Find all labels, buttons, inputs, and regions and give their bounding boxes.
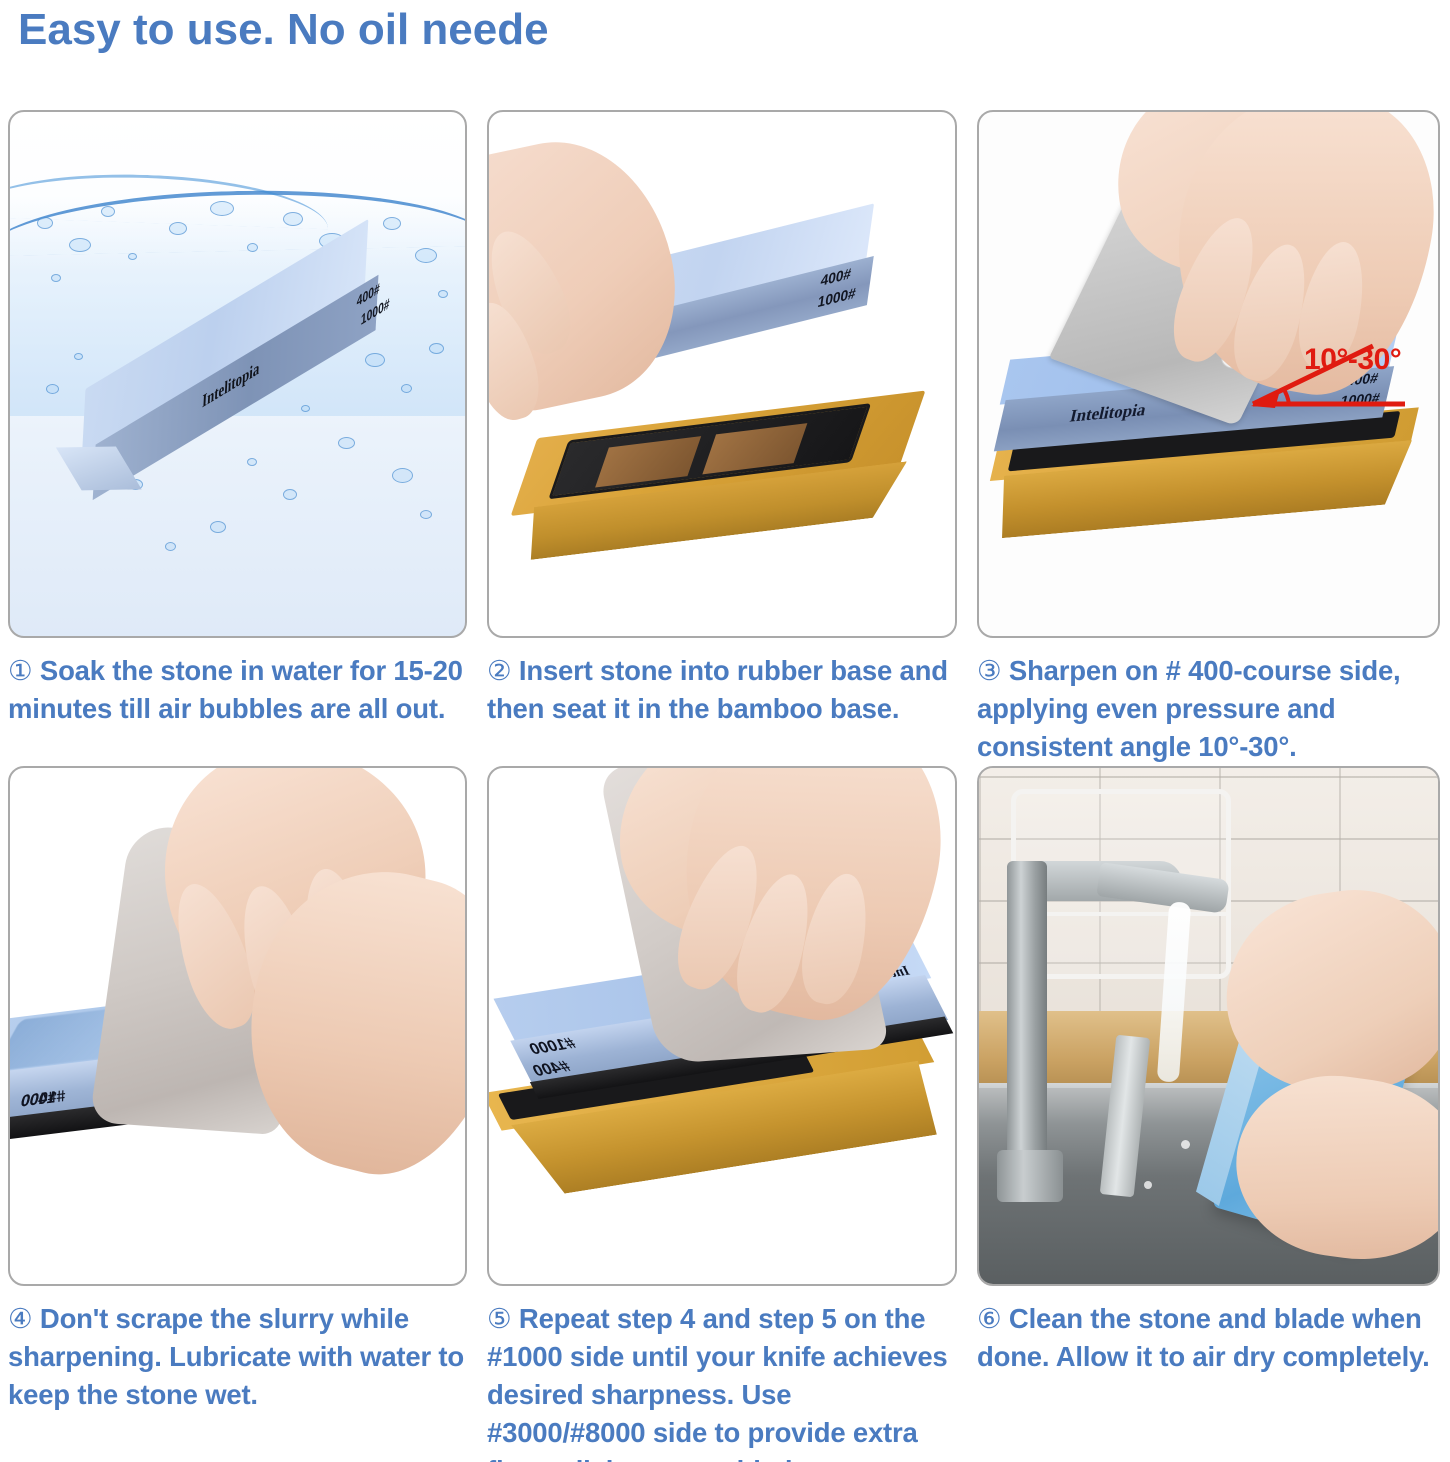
- step-3-caption: ③ Sharpen on # 400-course side, applying…: [977, 638, 1440, 766]
- finger: [794, 868, 878, 1009]
- bubble-icon: [210, 521, 226, 533]
- step-cell-1: Intelitopia 400# 1000# ① Soak the stone …: [0, 110, 477, 766]
- step-cell-2: Intelitopia 400# 1000# ② Insert stone in…: [477, 110, 967, 766]
- step-6-image: 1000# 400#: [977, 766, 1440, 1286]
- bubble-icon: [365, 353, 385, 367]
- infographic-page: Easy to use. No oil neede: [0, 0, 1450, 1462]
- step-3-text: Sharpen on # 400-course side, applying e…: [977, 655, 1401, 762]
- step-1-image: Intelitopia 400# 1000#: [8, 110, 467, 638]
- bubble-icon: [338, 437, 355, 449]
- bubble-icon: [37, 217, 53, 229]
- bubble-icon: [438, 290, 448, 298]
- water-droplet-icon: [1144, 1181, 1152, 1189]
- step-cell-4: #1000 #400 Intelitopia ④ Don't scrape th…: [0, 766, 477, 1462]
- step-2-caption: ② Insert stone into rubber base and then…: [487, 638, 957, 728]
- step-6-caption: ⑥ Clean the stone and blade when done. A…: [977, 1286, 1440, 1376]
- bubble-icon: [165, 542, 176, 551]
- faucet-base: [997, 1150, 1063, 1202]
- bubble-icon: [383, 217, 401, 230]
- rubber-slot: [595, 436, 701, 487]
- bubble-icon: [429, 343, 444, 354]
- step-6-text: Clean the stone and blade when done. All…: [977, 1303, 1430, 1372]
- step-4-caption: ④ Don't scrape the slurry while sharpeni…: [8, 1286, 467, 1414]
- step-5-image: #1000 #400 Intelitopia: [487, 766, 957, 1286]
- bubble-icon: [74, 353, 83, 360]
- step-cell-6: 1000# 400# ⑥ Clean the stone and blade w…: [967, 766, 1450, 1462]
- step-6-number: ⑥: [977, 1303, 1001, 1334]
- step-1-caption: ① Soak the stone in water for 15-20 minu…: [8, 638, 467, 728]
- bubble-icon: [392, 468, 413, 483]
- step-4-text: Don't scrape the slurry while sharpening…: [8, 1303, 464, 1410]
- step-3-number: ③: [977, 655, 1001, 686]
- step-5-text: Repeat step 4 and step 5 on the #1000 si…: [487, 1303, 948, 1462]
- steps-grid: Intelitopia 400# 1000# ① Soak the stone …: [0, 110, 1450, 1462]
- step-1-text: Soak the stone in water for 15-20 minute…: [8, 655, 463, 724]
- step-cell-5: #1000 #400 Intelitopia ⑤ Repeat step 4 a…: [477, 766, 967, 1462]
- bubble-icon: [247, 243, 258, 252]
- step-2-number: ②: [487, 655, 511, 686]
- water-droplet-icon: [1181, 1140, 1190, 1149]
- bubble-icon: [283, 489, 297, 500]
- step-4-number: ④: [8, 1303, 32, 1334]
- step-4-image: #1000 #400 Intelitopia: [8, 766, 467, 1286]
- bubble-icon: [69, 238, 91, 252]
- bamboo-base: [520, 393, 924, 570]
- page-title: Easy to use. No oil neede: [18, 2, 549, 58]
- bubble-icon: [283, 212, 303, 226]
- step-2-text: Insert stone into rubber base and then s…: [487, 655, 948, 724]
- angle-annotation-label: 10°-30°: [1304, 343, 1401, 377]
- step-5-number: ⑤: [487, 1303, 511, 1334]
- rubber-slot: [702, 423, 808, 474]
- step-1-number: ①: [8, 655, 32, 686]
- step-3-image: Intelitopia 400# 1000# 10°-30°: [977, 110, 1440, 638]
- bubble-icon: [247, 458, 257, 466]
- step-5-caption: ⑤ Repeat step 4 and step 5 on the #1000 …: [487, 1286, 957, 1462]
- step-2-image: Intelitopia 400# 1000#: [487, 110, 957, 638]
- step-cell-3: Intelitopia 400# 1000# 10°-30°: [967, 110, 1450, 766]
- bubble-icon: [420, 510, 432, 519]
